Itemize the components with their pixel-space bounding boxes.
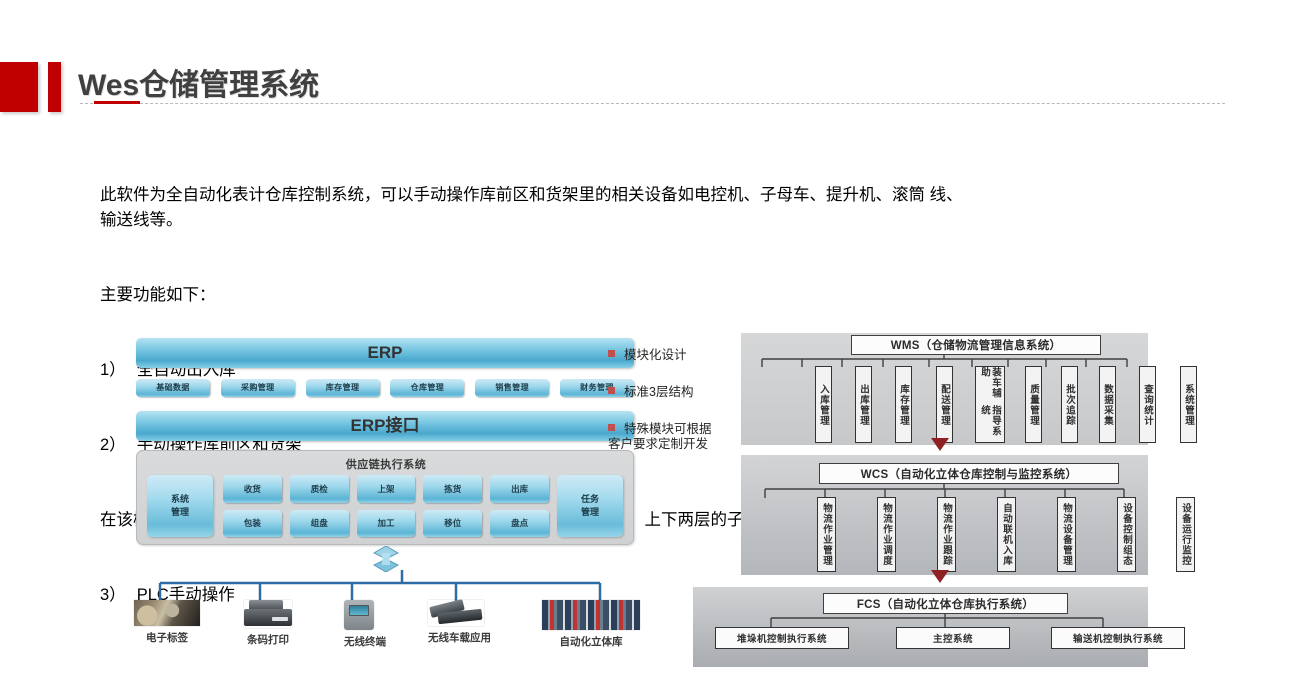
device-label: 无线车载应用 xyxy=(428,630,491,645)
asrs-rack-photo-icon xyxy=(542,600,640,630)
feature-bullet-item: 标准3层结构 xyxy=(608,385,693,400)
slide-header: Wes仓储管理系统 xyxy=(0,60,1290,116)
bullet-square-icon xyxy=(608,387,615,394)
wcs-panel: WCS（自动化立体仓库控制与监控系统） 物流作业管理 物流作业调度 物流作业跟踪… xyxy=(741,455,1148,575)
erp-module: 销售管理 xyxy=(475,379,549,397)
intro-paragraph: 此软件为全自动化表计仓库控制系统，可以手动操作库前区和货架里的相关设备如电控机、… xyxy=(100,183,1240,233)
device-item: 条码打印 xyxy=(244,600,292,647)
title-divider xyxy=(80,103,1225,104)
erp-interface-bar: ERP接口 xyxy=(136,411,634,441)
device-label: 自动化立体库 xyxy=(542,634,640,649)
device-label: 条码打印 xyxy=(244,632,292,647)
fcs-module: 输送机控制执行系统 xyxy=(1051,627,1185,649)
sce-box-label-line1: 任务 xyxy=(557,493,623,506)
wms-module: 数据采集 xyxy=(1099,366,1116,443)
sce-cell: 组盘 xyxy=(290,510,349,538)
sce-system-management-box: 系统 管理 xyxy=(147,475,213,537)
wms-module: 系统管理 xyxy=(1180,366,1197,443)
sce-cell: 加工 xyxy=(357,510,416,538)
wms-module: 出库管理 xyxy=(855,366,872,443)
wms-module: 批次追踪 xyxy=(1061,366,1078,443)
erp-module-row: 基础数据 采购管理 库存管理 仓库管理 销售管理 财务管理 xyxy=(136,379,634,399)
wms-module-loading-assist: 装车辅助指导系统 xyxy=(975,366,1005,443)
wms-module-label-col2: 指导系统 xyxy=(979,405,1001,443)
device-label: 无线终端 xyxy=(344,634,386,649)
feature-bullet-label: 模块化设计 xyxy=(624,348,687,362)
erp-architecture-diagram: ERP 基础数据 采购管理 库存管理 仓库管理 销售管理 财务管理 ERP接口 … xyxy=(120,325,650,680)
fcs-header: FCS（自动化立体仓库执行系统） xyxy=(823,593,1068,614)
wcs-module-row: 物流作业管理 物流作业调度 物流作业跟踪 自动联机入库 物流设备管理 设备控制组… xyxy=(803,497,1202,572)
sce-box-label-line2: 管理 xyxy=(147,506,213,519)
device-item: 无线车载应用 xyxy=(428,600,491,645)
wms-module: 查询统计 xyxy=(1139,366,1156,443)
barcode-printer-photo-icon xyxy=(244,600,292,628)
page-title: Wes仓储管理系统 xyxy=(78,60,319,104)
sce-cell: 拣货 xyxy=(423,475,482,503)
wms-module: 配送管理 xyxy=(936,366,953,443)
fcs-module-row: 堆垛机控制执行系统 主控系统 输送机控制执行系统 xyxy=(707,627,1154,649)
wcs-tree-lines xyxy=(741,484,1148,498)
bullet-square-icon xyxy=(608,350,615,357)
sce-cell: 上架 xyxy=(357,475,416,503)
wcs-module: 物流设备管理 xyxy=(1057,497,1076,572)
device-item: 无线终端 xyxy=(344,600,386,649)
flow-arrow-wms-to-wcs-icon xyxy=(931,438,949,451)
wms-panel: WMS（仓储物流管理信息系统） 入库管理 出库管理 库存管理 配送管理 xyxy=(741,333,1148,445)
title-divider-accent xyxy=(94,101,140,104)
diagram-area: ERP 基础数据 采购管理 库存管理 仓库管理 销售管理 财务管理 ERP接口 … xyxy=(0,325,1290,680)
sce-cell: 收货 xyxy=(223,475,282,503)
sce-cell: 移位 xyxy=(423,510,482,538)
sce-cell: 盘点 xyxy=(490,510,549,538)
fcs-tree-lines xyxy=(693,614,1148,628)
erp-module: 仓库管理 xyxy=(390,379,464,397)
sce-box-label-line2: 管理 xyxy=(557,506,623,519)
erp-module: 采购管理 xyxy=(221,379,295,397)
device-label: 电子标签 xyxy=(134,630,200,645)
rfid-tag-photo-icon xyxy=(134,600,200,626)
sce-cell: 包装 xyxy=(223,510,282,538)
wcs-module: 设备控制组态 xyxy=(1117,497,1136,572)
sce-box-label-line1: 系统 xyxy=(147,493,213,506)
wcs-module: 物流作业跟踪 xyxy=(937,497,956,572)
bullet-square-icon xyxy=(608,424,615,431)
wms-module: 库存管理 xyxy=(895,366,912,443)
erp-module: 基础数据 xyxy=(136,379,210,397)
device-item: 自动化立体库 xyxy=(542,600,640,649)
wireless-terminal-photo-icon xyxy=(344,600,374,630)
flow-arrow-wcs-to-fcs-icon xyxy=(931,570,949,583)
wms-module-label-col1: 装车辅助 xyxy=(979,367,1001,405)
wms-header: WMS（仓储物流管理信息系统） xyxy=(851,335,1101,355)
fcs-module: 主控系统 xyxy=(896,627,1010,649)
supply-chain-execution-panel: 供应链执行系统 系统 管理 收货 质检 上架 拣货 出库 包装 组盘 加工 移位… xyxy=(136,450,634,545)
wms-module-row: 入库管理 出库管理 库存管理 配送管理 装车辅助指导系统 质量管理 批次追踪 数… xyxy=(803,366,1202,443)
data-exchange-connector-icon xyxy=(370,546,402,572)
fcs-panel: FCS（自动化立体仓库执行系统） 堆垛机控制执行系统 主控系统 输送机控制执行系… xyxy=(693,587,1148,667)
sce-cell: 出库 xyxy=(490,475,549,503)
header-accent-block-thin xyxy=(48,62,61,112)
header-accent-block-wide xyxy=(0,62,38,112)
wcs-module: 设备运行监控 xyxy=(1176,497,1195,572)
erp-module: 库存管理 xyxy=(306,379,380,397)
vehicle-mounted-photo-icon xyxy=(428,600,484,626)
device-item: 电子标签 xyxy=(134,600,200,645)
fcs-module: 堆垛机控制执行系统 xyxy=(715,627,849,649)
sce-task-management-box: 任务 管理 xyxy=(557,475,623,537)
wms-module: 入库管理 xyxy=(815,366,832,443)
wcs-module: 自动联机入库 xyxy=(997,497,1016,572)
wms-module: 质量管理 xyxy=(1025,366,1042,443)
wms-wcs-fcs-architecture-diagram: WMS（仓储物流管理信息系统） 入库管理 出库管理 库存管理 配送管理 xyxy=(683,325,1148,675)
functions-heading: 主要功能如下： xyxy=(100,283,1240,308)
wcs-header: WCS（自动化立体仓库控制与监控系统） xyxy=(819,463,1119,484)
sce-function-grid: 收货 质检 上架 拣货 出库 包装 组盘 加工 移位 盘点 xyxy=(223,475,549,537)
feature-bullet-item: 模块化设计 xyxy=(608,348,687,363)
sce-cell: 质检 xyxy=(290,475,349,503)
wcs-module: 物流作业管理 xyxy=(817,497,836,572)
sce-panel-title: 供应链执行系统 xyxy=(137,456,635,472)
erp-layer-bar: ERP xyxy=(136,338,634,368)
device-row: 电子标签 条码打印 无线终端 无线车载应用 xyxy=(128,600,638,680)
wcs-module: 物流作业调度 xyxy=(877,497,896,572)
